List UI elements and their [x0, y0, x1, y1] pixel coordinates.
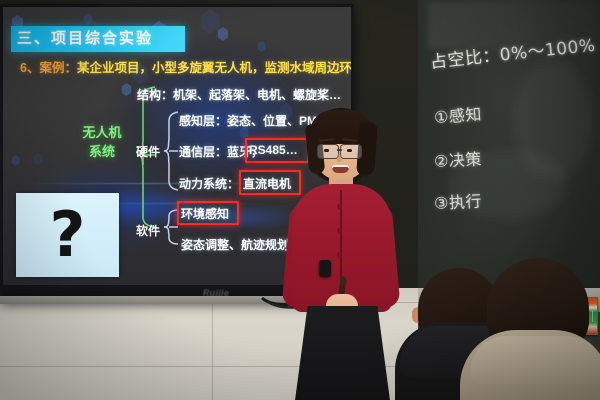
highlight-box-environment-sensing: [177, 201, 239, 225]
teacher-nose: [337, 154, 342, 162]
student-hood: [470, 336, 600, 384]
clip-microphone-icon: [319, 260, 331, 277]
teacher-eye-right: [347, 149, 352, 152]
mindmap-branch-software-label: 软件: [136, 222, 160, 239]
teacher-eye-left: [324, 149, 329, 152]
teacher-mouth: [332, 165, 349, 173]
glasses-bridge-icon: [337, 149, 342, 151]
blackboard-item-1: ①感知: [433, 101, 482, 128]
teacher: [286, 108, 398, 400]
mindmap-item-power-system: 动力系统：: [179, 175, 239, 192]
classroom-scene: 占空比：0%～100% ①感知 ②决策 ③执行 三、项目: [0, 0, 600, 400]
blackboard-item-3: ③执行: [433, 188, 482, 214]
mindmap-brace-hardware: [163, 111, 179, 193]
mindmap-root-line2: 系统: [65, 142, 139, 161]
blackboard-item-2: ②决策: [433, 146, 482, 172]
question-mark-icon: ?: [16, 193, 119, 277]
chalk-smudge: [513, 60, 593, 180]
mindmap-root: 无人机 系统: [65, 123, 139, 161]
tile-grout-line: [212, 302, 213, 400]
teacher-skirt: [294, 306, 391, 400]
teacher-sweater-button: [337, 228, 342, 233]
mindmap-branch-hardware-label: 硬件: [136, 143, 160, 160]
teacher-sweater-button: [337, 204, 342, 209]
mindmap-root-line1: 无人机: [65, 123, 139, 142]
teacher-sweater-button: [337, 252, 342, 257]
mindmap-branch-structure: 结构：机架、起落架、电机、螺旋桨…: [137, 86, 341, 103]
